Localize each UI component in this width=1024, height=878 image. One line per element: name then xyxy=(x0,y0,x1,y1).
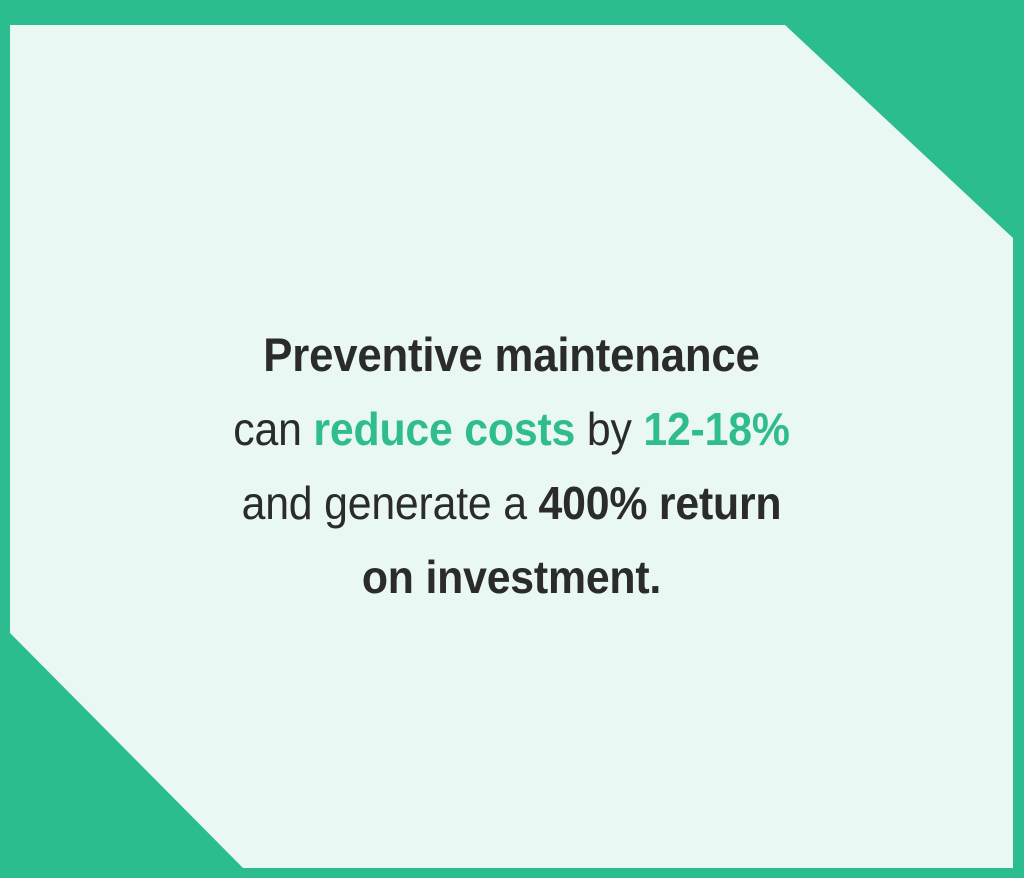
statement-line-2-segment-3: by xyxy=(575,403,643,455)
statistic-callout-card: Preventive maintenance can reduce costs … xyxy=(0,0,1024,878)
statement-line-3-highlight-roi: 400% return xyxy=(539,477,782,529)
statement-line-1: Preventive maintenance xyxy=(45,318,978,392)
statement-line-4: on investment. xyxy=(45,540,978,614)
statement-line-4-segment-1: on investment. xyxy=(362,551,661,603)
statement-line-2-segment-1: can xyxy=(233,403,313,455)
card-inner-panel: Preventive maintenance can reduce costs … xyxy=(10,25,1013,868)
statement-line-3: and generate a 400% return xyxy=(45,466,978,540)
statement-line-1-segment-1: Preventive maintenance xyxy=(263,328,759,381)
statement-text-block: Preventive maintenance can reduce costs … xyxy=(45,318,978,614)
statement-line-2-highlight-reduce-costs: reduce costs xyxy=(313,403,575,455)
statement-line-2-highlight-percentage: 12-18% xyxy=(643,403,789,455)
statement-line-2: can reduce costs by 12-18% xyxy=(45,392,978,466)
statement-line-3-segment-1: and generate a xyxy=(242,477,539,529)
